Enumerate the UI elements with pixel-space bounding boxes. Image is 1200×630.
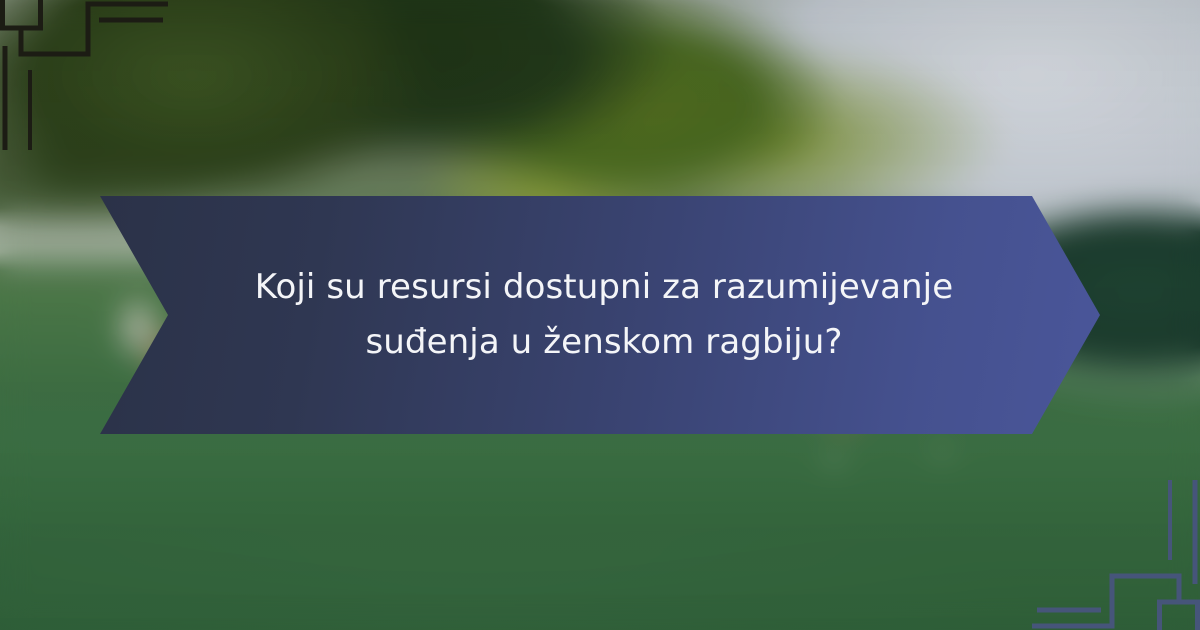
circuit-corner-bottom-right-icon bbox=[1030, 480, 1200, 630]
headline-banner: Koji su resursi dostupni za razumijevanj… bbox=[100, 196, 1100, 434]
circuit-corner-top-left-icon bbox=[0, 0, 170, 150]
social-card: Koji su resursi dostupni za razumijevanj… bbox=[0, 0, 1200, 630]
headline-text: Koji su resursi dostupni za razumijevanj… bbox=[216, 260, 984, 370]
